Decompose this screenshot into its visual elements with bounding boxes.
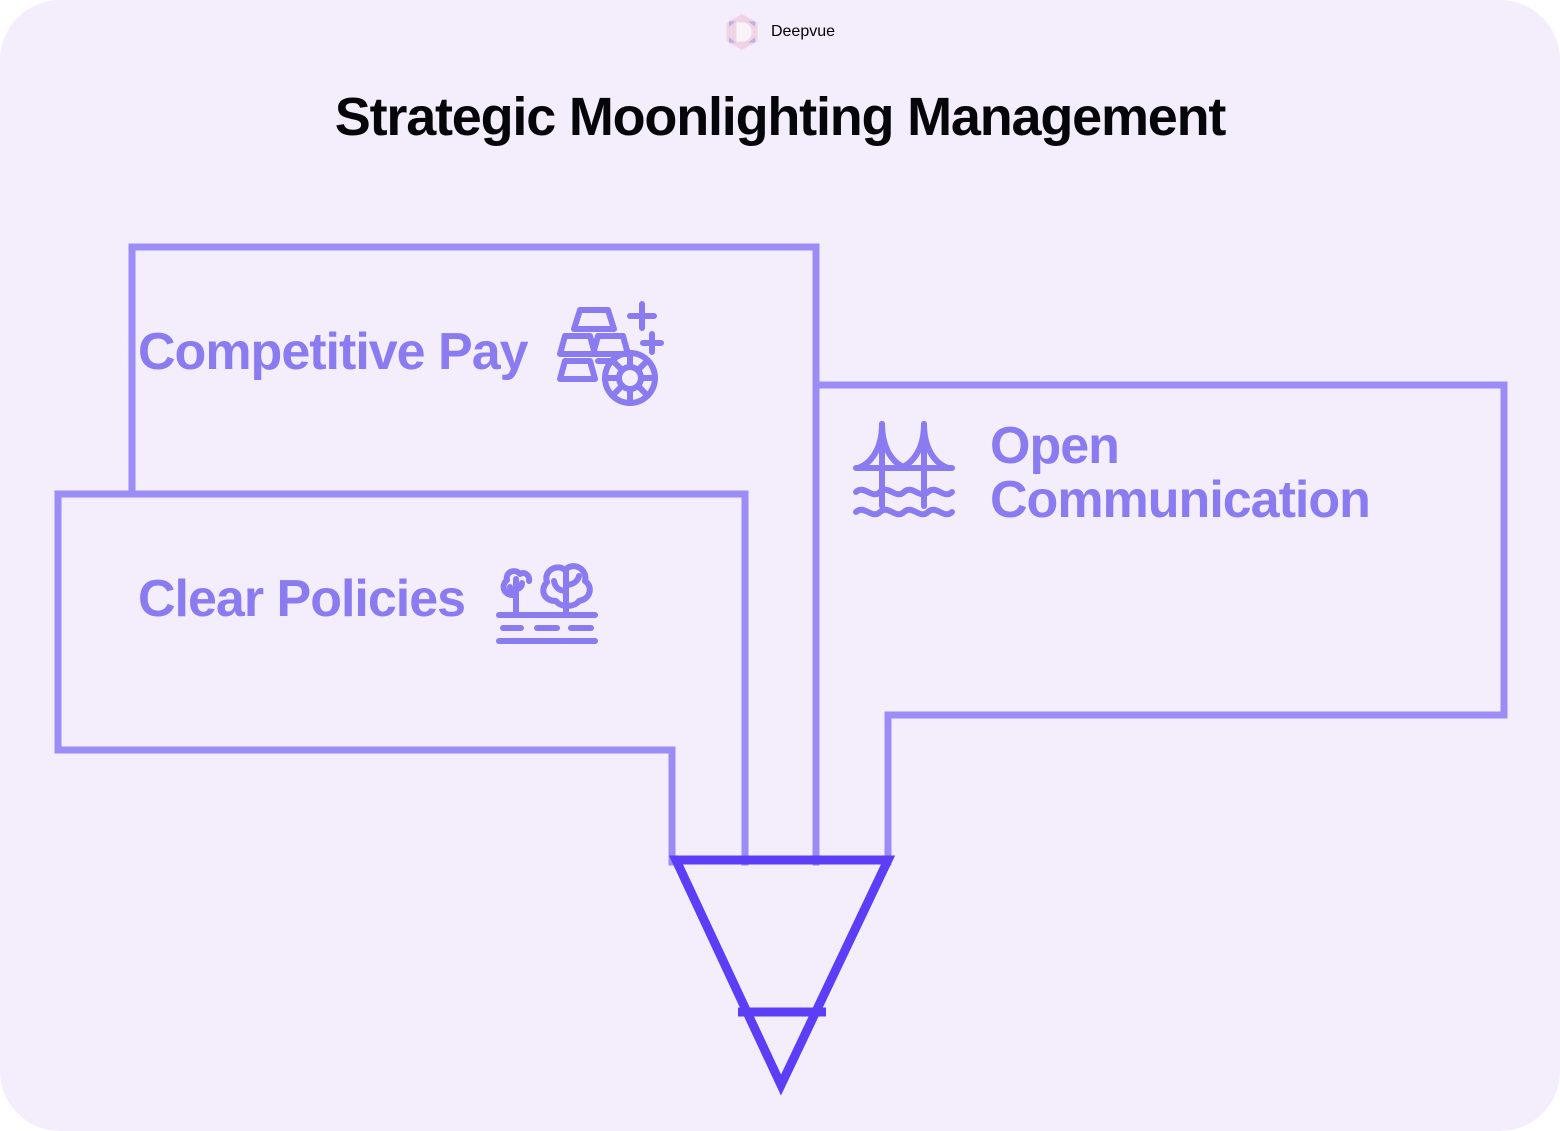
trees-road-icon bbox=[491, 549, 603, 649]
brand-name: Deepvue bbox=[771, 23, 835, 41]
brand-lockup: Deepvue bbox=[0, 8, 1560, 56]
gold-bars-coin-icon bbox=[554, 296, 664, 408]
card-open-communication: Open Communication bbox=[852, 414, 1370, 532]
card-label-competitive-pay: Competitive Pay bbox=[138, 325, 528, 379]
card-clear-policies: Clear Policies bbox=[138, 549, 603, 649]
infographic-canvas: Deepvue Strategic Moonlighting Managemen… bbox=[0, 0, 1560, 1131]
inverted-triangle-funnel-icon bbox=[676, 860, 888, 1085]
card-competitive-pay: Competitive Pay bbox=[138, 296, 664, 408]
hexagon-d-logo-icon bbox=[725, 13, 759, 51]
card-label-open-communication: Open Communication bbox=[990, 419, 1370, 527]
page-title: Strategic Moonlighting Management bbox=[0, 86, 1560, 148]
suspension-bridge-water-icon bbox=[852, 414, 956, 532]
card-label-clear-policies: Clear Policies bbox=[138, 572, 465, 626]
